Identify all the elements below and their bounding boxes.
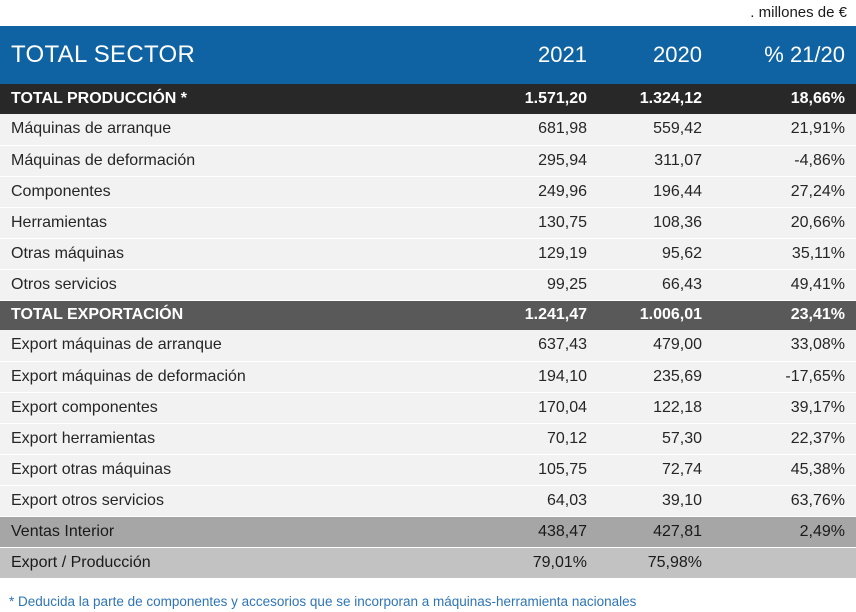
- cell-2021: 70,12: [480, 423, 598, 454]
- cell-pct: 23,41%: [713, 300, 856, 330]
- cell-2021: 129,19: [480, 238, 598, 269]
- column-header-pct: % 21/20: [713, 26, 856, 84]
- cell-pct: [713, 547, 856, 578]
- cell-2021: 681,98: [480, 114, 598, 145]
- row-export-componentes: Export componentes170,04122,1839,17%: [0, 392, 856, 423]
- cell-label: Export componentes: [0, 392, 480, 423]
- cell-pct: -17,65%: [713, 361, 856, 392]
- cell-2020: 72,74: [598, 454, 713, 485]
- cell-2021: 170,04: [480, 392, 598, 423]
- cell-2020: 66,43: [598, 269, 713, 300]
- row-export-otros-servicios: Export otros servicios64,0339,1063,76%: [0, 485, 856, 516]
- cell-pct: 39,17%: [713, 392, 856, 423]
- cell-pct: 33,08%: [713, 330, 856, 361]
- cell-2021: 99,25: [480, 269, 598, 300]
- cell-label: Export herramientas: [0, 423, 480, 454]
- cell-2020: 1.006,01: [598, 300, 713, 330]
- cell-2021: 79,01%: [480, 547, 598, 578]
- table-footnote: * Deducida la parte de componentes y acc…: [0, 593, 856, 611]
- cell-2020: 427,81: [598, 516, 713, 547]
- cell-pct: 45,38%: [713, 454, 856, 485]
- row-maquinas-de-deformacion: Máquinas de deformación295,94311,07-4,86…: [0, 145, 856, 176]
- cell-2020: 75,98%: [598, 547, 713, 578]
- cell-2020: 559,42: [598, 114, 713, 145]
- row-ventas-interior: Ventas Interior438,47427,812,49%: [0, 516, 856, 547]
- row-export-maquinas-de-deformacion: Export máquinas de deformación194,10235,…: [0, 361, 856, 392]
- cell-2021: 295,94: [480, 145, 598, 176]
- cell-label: Export otros servicios: [0, 485, 480, 516]
- cell-2020: 235,69: [598, 361, 713, 392]
- table-body: TOTAL PRODUCCIÓN *1.571,201.324,1218,66%…: [0, 84, 856, 578]
- cell-label: Export otras máquinas: [0, 454, 480, 485]
- cell-2020: 122,18: [598, 392, 713, 423]
- cell-2020: 1.324,12: [598, 84, 713, 114]
- column-header-label: TOTAL SECTOR: [0, 26, 480, 84]
- cell-pct: 35,11%: [713, 238, 856, 269]
- column-header-2021: 2021: [480, 26, 598, 84]
- cell-2021: 637,43: [480, 330, 598, 361]
- cell-pct: 27,24%: [713, 176, 856, 207]
- table-sheet: . millones de € TOTAL SECTOR 2021 2020 %…: [0, 0, 856, 612]
- cell-label: Componentes: [0, 176, 480, 207]
- table-header: TOTAL SECTOR 2021 2020 % 21/20: [0, 26, 856, 84]
- row-total-exportacion: TOTAL EXPORTACIÓN1.241,471.006,0123,41%: [0, 300, 856, 330]
- row-otros-servicios: Otros servicios99,2566,4349,41%: [0, 269, 856, 300]
- cell-label: Máquinas de deformación: [0, 145, 480, 176]
- row-export-produccion: Export / Producción79,01%75,98%: [0, 547, 856, 578]
- row-componentes: Componentes249,96196,4427,24%: [0, 176, 856, 207]
- cell-pct: 18,66%: [713, 84, 856, 114]
- cell-2020: 39,10: [598, 485, 713, 516]
- cell-2020: 196,44: [598, 176, 713, 207]
- cell-pct: 20,66%: [713, 207, 856, 238]
- cell-2021: 194,10: [480, 361, 598, 392]
- cell-label: Export / Producción: [0, 547, 480, 578]
- cell-label: Otras máquinas: [0, 238, 480, 269]
- row-export-otras-maquinas: Export otras máquinas105,7572,7445,38%: [0, 454, 856, 485]
- cell-2021: 130,75: [480, 207, 598, 238]
- units-caption: . millones de €: [0, 0, 856, 26]
- cell-2021: 1.241,47: [480, 300, 598, 330]
- cell-label: Export máquinas de deformación: [0, 361, 480, 392]
- cell-label: Export máquinas de arranque: [0, 330, 480, 361]
- row-export-maquinas-de-arranque: Export máquinas de arranque637,43479,003…: [0, 330, 856, 361]
- cell-label: Ventas Interior: [0, 516, 480, 547]
- cell-2020: 57,30: [598, 423, 713, 454]
- cell-2021: 64,03: [480, 485, 598, 516]
- cell-label: TOTAL EXPORTACIÓN: [0, 300, 480, 330]
- cell-2020: 95,62: [598, 238, 713, 269]
- cell-2021: 1.571,20: [480, 84, 598, 114]
- cell-2020: 108,36: [598, 207, 713, 238]
- total-sector-table: TOTAL SECTOR 2021 2020 % 21/20 TOTAL PRO…: [0, 26, 856, 578]
- cell-2021: 438,47: [480, 516, 598, 547]
- cell-2021: 249,96: [480, 176, 598, 207]
- cell-label: Herramientas: [0, 207, 480, 238]
- cell-2020: 479,00: [598, 330, 713, 361]
- row-otras-maquinas: Otras máquinas129,1995,6235,11%: [0, 238, 856, 269]
- cell-pct: 2,49%: [713, 516, 856, 547]
- cell-pct: 21,91%: [713, 114, 856, 145]
- cell-label: TOTAL PRODUCCIÓN *: [0, 84, 480, 114]
- row-total-produccion: TOTAL PRODUCCIÓN *1.571,201.324,1218,66%: [0, 84, 856, 114]
- cell-pct: 49,41%: [713, 269, 856, 300]
- cell-pct: 22,37%: [713, 423, 856, 454]
- cell-pct: -4,86%: [713, 145, 856, 176]
- row-maquinas-de-arranque: Máquinas de arranque681,98559,4221,91%: [0, 114, 856, 145]
- cell-2020: 311,07: [598, 145, 713, 176]
- cell-label: Otros servicios: [0, 269, 480, 300]
- table-header-row: TOTAL SECTOR 2021 2020 % 21/20: [0, 26, 856, 84]
- row-herramientas: Herramientas130,75108,3620,66%: [0, 207, 856, 238]
- cell-label: Máquinas de arranque: [0, 114, 480, 145]
- cell-2021: 105,75: [480, 454, 598, 485]
- cell-pct: 63,76%: [713, 485, 856, 516]
- row-export-herramientas: Export herramientas70,1257,3022,37%: [0, 423, 856, 454]
- column-header-2020: 2020: [598, 26, 713, 84]
